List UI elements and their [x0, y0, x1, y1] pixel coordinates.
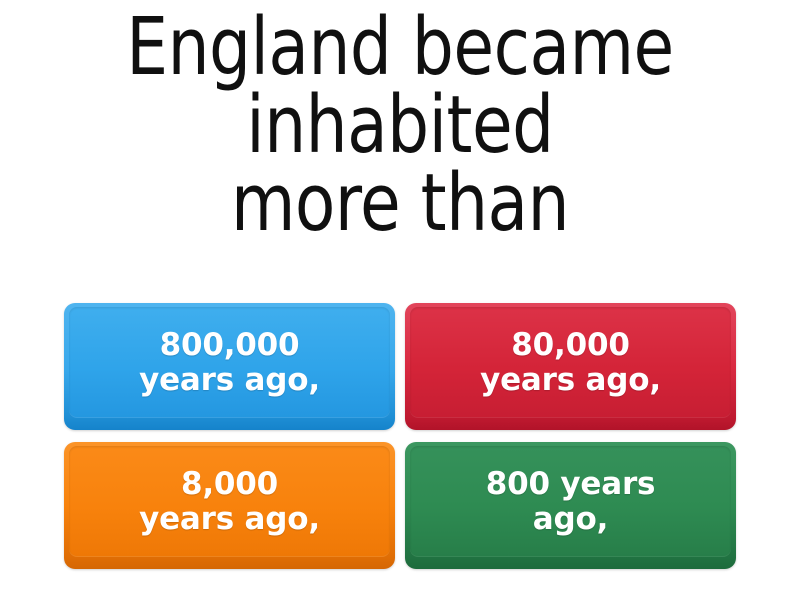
answer-option-2-label: 80,000 years ago, — [480, 328, 661, 397]
answer-option-1-face: 800,000 years ago, — [69, 307, 390, 418]
answer-option-4[interactable]: 800 years ago, — [405, 442, 736, 569]
answer-option-2-face: 80,000 years ago, — [410, 307, 731, 418]
answer-option-1-label: 800,000 years ago, — [139, 328, 320, 397]
answer-option-3[interactable]: 8,000 years ago, — [64, 442, 395, 569]
question-text: England became inhabited more than — [75, 8, 726, 243]
answer-option-3-label: 8,000 years ago, — [139, 467, 320, 536]
quiz-question-screen: England became inhabited more than 800,0… — [0, 0, 800, 600]
answer-option-4-label: 800 years ago, — [486, 467, 656, 536]
answer-option-4-face: 800 years ago, — [410, 446, 731, 557]
answer-option-3-face: 8,000 years ago, — [69, 446, 390, 557]
question-area: England became inhabited more than — [0, 8, 800, 290]
answer-option-2[interactable]: 80,000 years ago, — [405, 303, 736, 430]
answer-option-1[interactable]: 800,000 years ago, — [64, 303, 395, 430]
answer-options-grid: 800,000 years ago, 80,000 years ago, 8,0… — [64, 303, 736, 573]
